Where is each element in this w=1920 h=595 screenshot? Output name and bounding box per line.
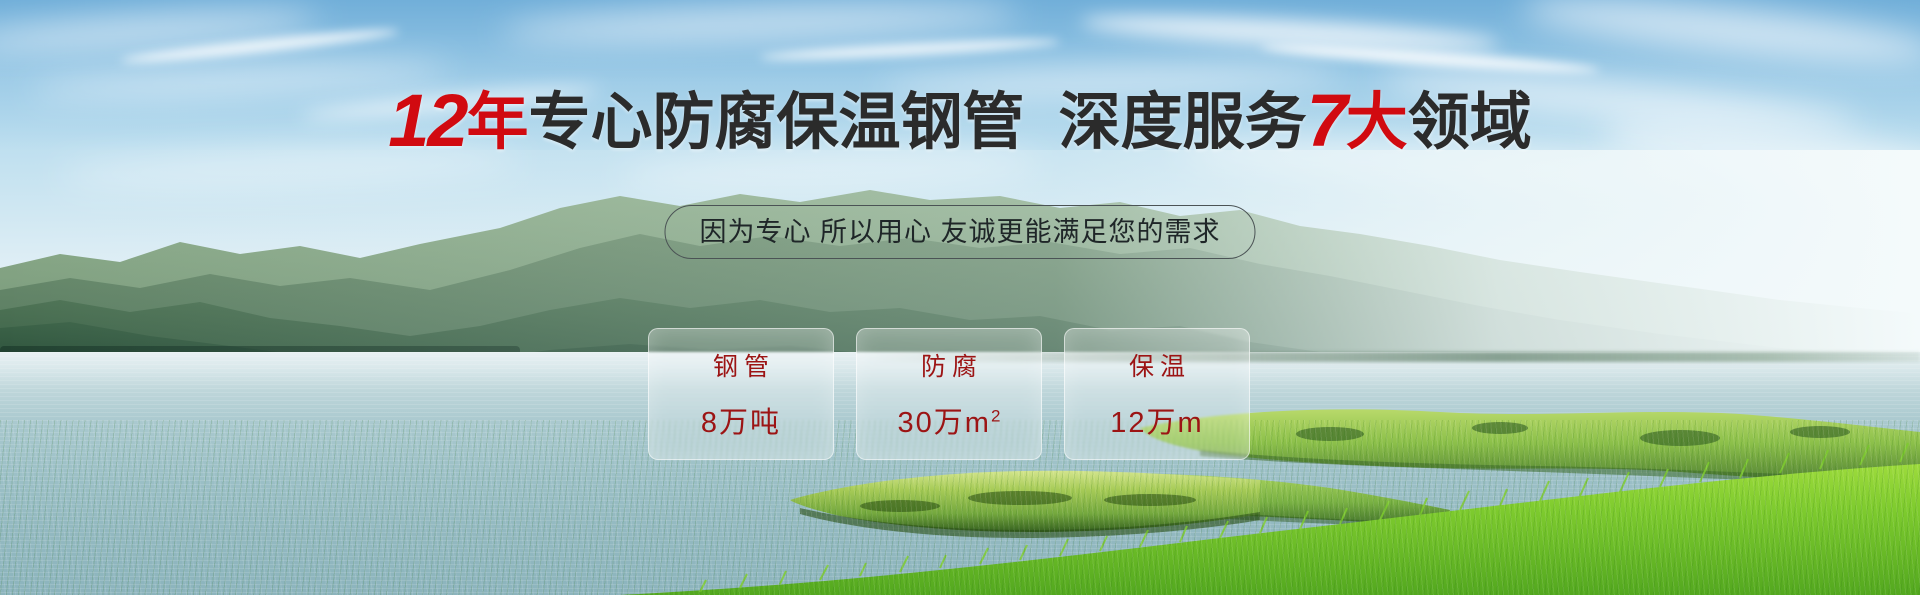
stat-value-superscript: 2 [991, 406, 1000, 425]
stat-value-text: 8万吨 [701, 407, 781, 439]
headline-service-text: 深度服务 [1059, 88, 1307, 157]
stat-value: 8万吨 [701, 399, 781, 441]
stat-label: 保温 [1123, 347, 1191, 383]
stat-card-anticorrosion: 防腐 30万m2 [856, 328, 1042, 460]
promo-banner: 12年专心防腐保温钢管深度服务7大领域 因为专心 所以用心 友诚更能满足您的需求… [0, 0, 1920, 595]
headline-fields-text: 领域 [1408, 88, 1532, 157]
stat-value: 12万m [1110, 399, 1203, 441]
headline-fields-unit: 大 [1346, 88, 1408, 157]
headline-years-number: 12 [388, 79, 466, 162]
headline-fields-number: 7 [1307, 79, 1346, 162]
stat-card-steel-pipe: 钢管 8万吨 [648, 328, 834, 460]
stat-value: 30万m2 [898, 399, 1001, 441]
stat-value-text: 30万m [898, 407, 991, 439]
headline-years-unit: 年 [467, 88, 529, 157]
subtitle-pill: 因为专心 所以用心 友诚更能满足您的需求 [664, 205, 1255, 259]
banner-content: 12年专心防腐保温钢管深度服务7大领域 因为专心 所以用心 友诚更能满足您的需求… [0, 0, 1920, 595]
headline-main-text: 专心防腐保温钢管 [529, 88, 1025, 157]
stat-value-text: 12万m [1110, 407, 1203, 439]
stats-row: 钢管 8万吨 防腐 30万m2 保温 12万m [648, 328, 1272, 460]
stat-label: 钢管 [707, 347, 775, 383]
stat-card-insulation: 保温 12万m [1064, 328, 1250, 460]
stat-label: 防腐 [915, 347, 983, 383]
headline: 12年专心防腐保温钢管深度服务7大领域 [0, 84, 1920, 158]
